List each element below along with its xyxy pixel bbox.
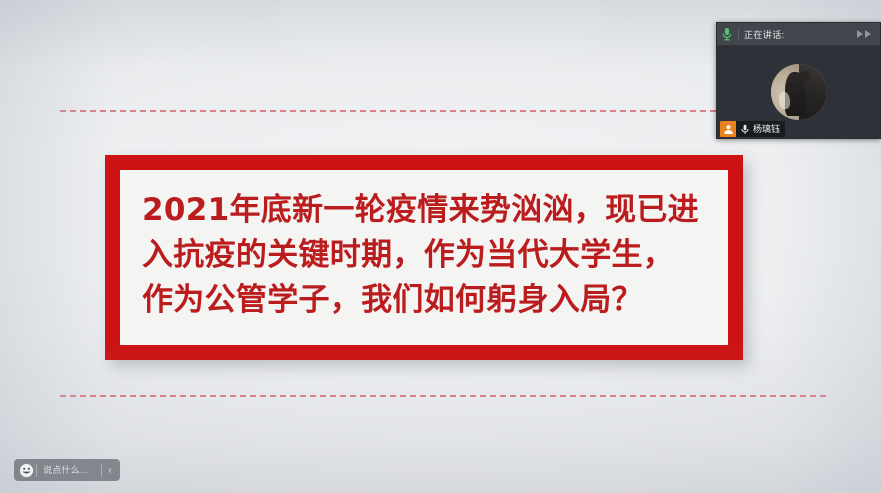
- speaker-video-panel[interactable]: 正在讲话:: [716, 22, 881, 139]
- decorative-dashed-rule-bottom: [60, 395, 826, 397]
- host-badge-icon: [720, 121, 736, 137]
- chat-input-bar[interactable]: ‹: [14, 459, 120, 481]
- decorative-dashed-rule-top: [60, 110, 826, 112]
- quote-frame: 2021年底新一轮疫情来势汹汹，现已进 入抗疫的关键时期，作为当代大学生， 作为…: [105, 155, 743, 360]
- smiley-emoji-icon[interactable]: [16, 460, 36, 480]
- header-divider: [738, 28, 739, 40]
- video-stage: 杨璃钰: [717, 46, 880, 139]
- quote-inner-panel: 2021年底新一轮疫情来势汹汹，现已进 入抗疫的关键时期，作为当代大学生， 作为…: [120, 170, 728, 345]
- meeting-screen-share-view: 2021年底新一轮疫情来势汹汹，现已进 入抗疫的关键时期，作为当代大学生， 作为…: [0, 0, 881, 493]
- participant-name-badge: 杨璃钰: [720, 121, 785, 137]
- participant-name-label: 杨璃钰: [751, 121, 785, 137]
- chat-message-input[interactable]: [37, 465, 101, 475]
- chat-collapse-button[interactable]: ‹: [102, 460, 118, 480]
- microphone-icon: [721, 27, 733, 41]
- microphone-muted-icon: [736, 121, 751, 137]
- slide-quote-text: 2021年底新一轮疫情来势汹汹，现已进 入抗疫的关键时期，作为当代大学生， 作为…: [142, 188, 706, 323]
- speaking-status-label: 正在讲话:: [744, 28, 849, 41]
- participant-avatar: [771, 64, 827, 120]
- double-chevron-collapse-icon[interactable]: [854, 28, 876, 40]
- video-panel-header: 正在讲话:: [717, 23, 880, 46]
